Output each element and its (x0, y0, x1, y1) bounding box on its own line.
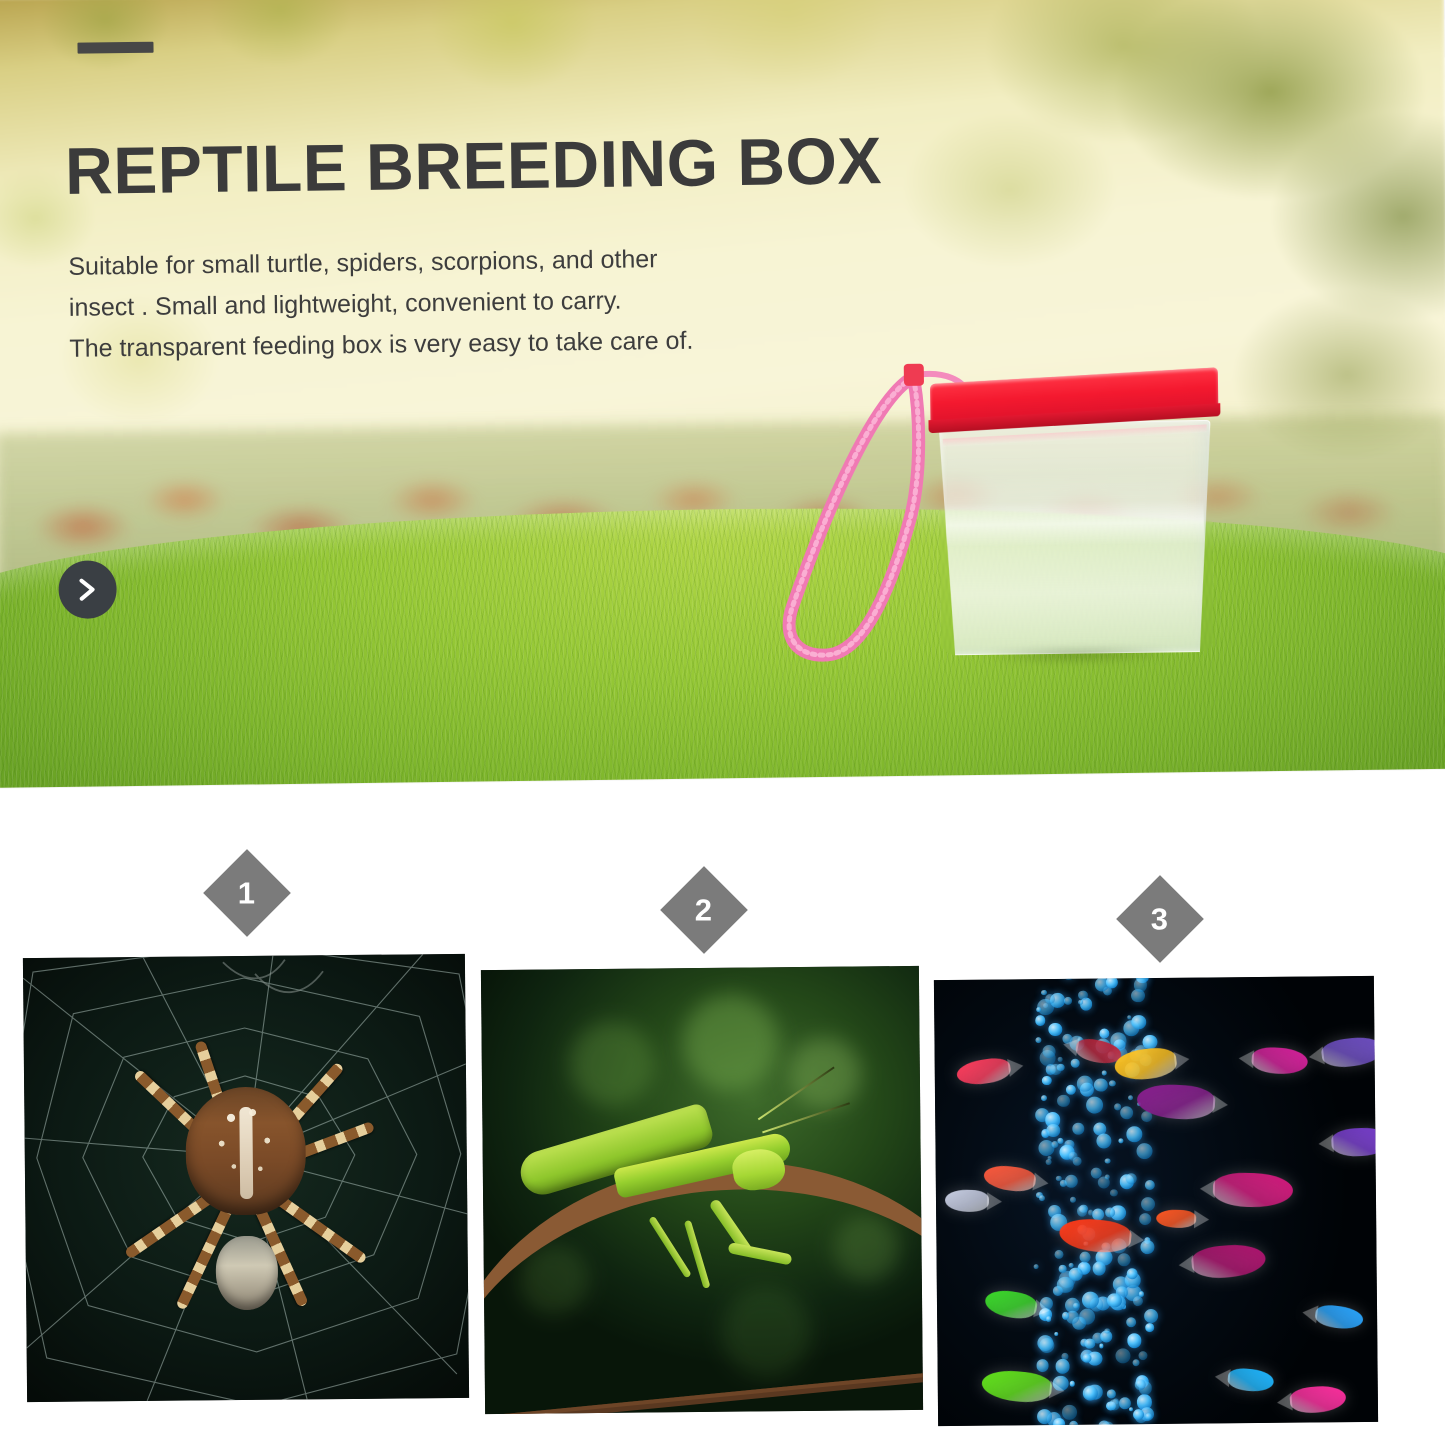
gallery-thumbnail-fish[interactable]: Brightly colored neon tetra glofish swim… (934, 976, 1378, 1426)
fish-graphic (1331, 1126, 1378, 1157)
gallery-badge-2-number: 2 (695, 895, 712, 926)
gallery-badge-3[interactable]: 3 (1116, 875, 1204, 963)
decorative-dash-icon (77, 42, 153, 54)
fish-graphic (945, 1189, 990, 1212)
gallery-badge-3-number: 3 (1151, 904, 1168, 935)
hero-banner: REPTILE BREEDING BOX Suitable for small … (0, 0, 1445, 788)
gallery-badge-2[interactable]: 2 (660, 866, 748, 954)
product-image (762, 351, 1246, 697)
product-container-highlight (946, 500, 1205, 547)
chevron-right-icon (76, 577, 98, 601)
product-shadow (941, 644, 1213, 672)
gallery-thumbnail-spider[interactable]: Brown and white garden spider resting on… (23, 954, 469, 1402)
hero-banner-wrapper: REPTILE BREEDING BOX Suitable for small … (0, 0, 1445, 794)
product-listing-page: REPTILE BREEDING BOX Suitable for small … (0, 0, 1445, 1436)
hero-subtitle: Suitable for small turtle, spiders, scor… (68, 236, 900, 370)
gallery-badge-1[interactable]: 1 (203, 849, 291, 937)
gallery-badge-1-number: 1 (238, 878, 255, 909)
gallery-thumbnail-mantis[interactable]: Green praying mantis perched on a curved… (481, 966, 923, 1414)
page-title: REPTILE BREEDING BOX (65, 122, 883, 209)
